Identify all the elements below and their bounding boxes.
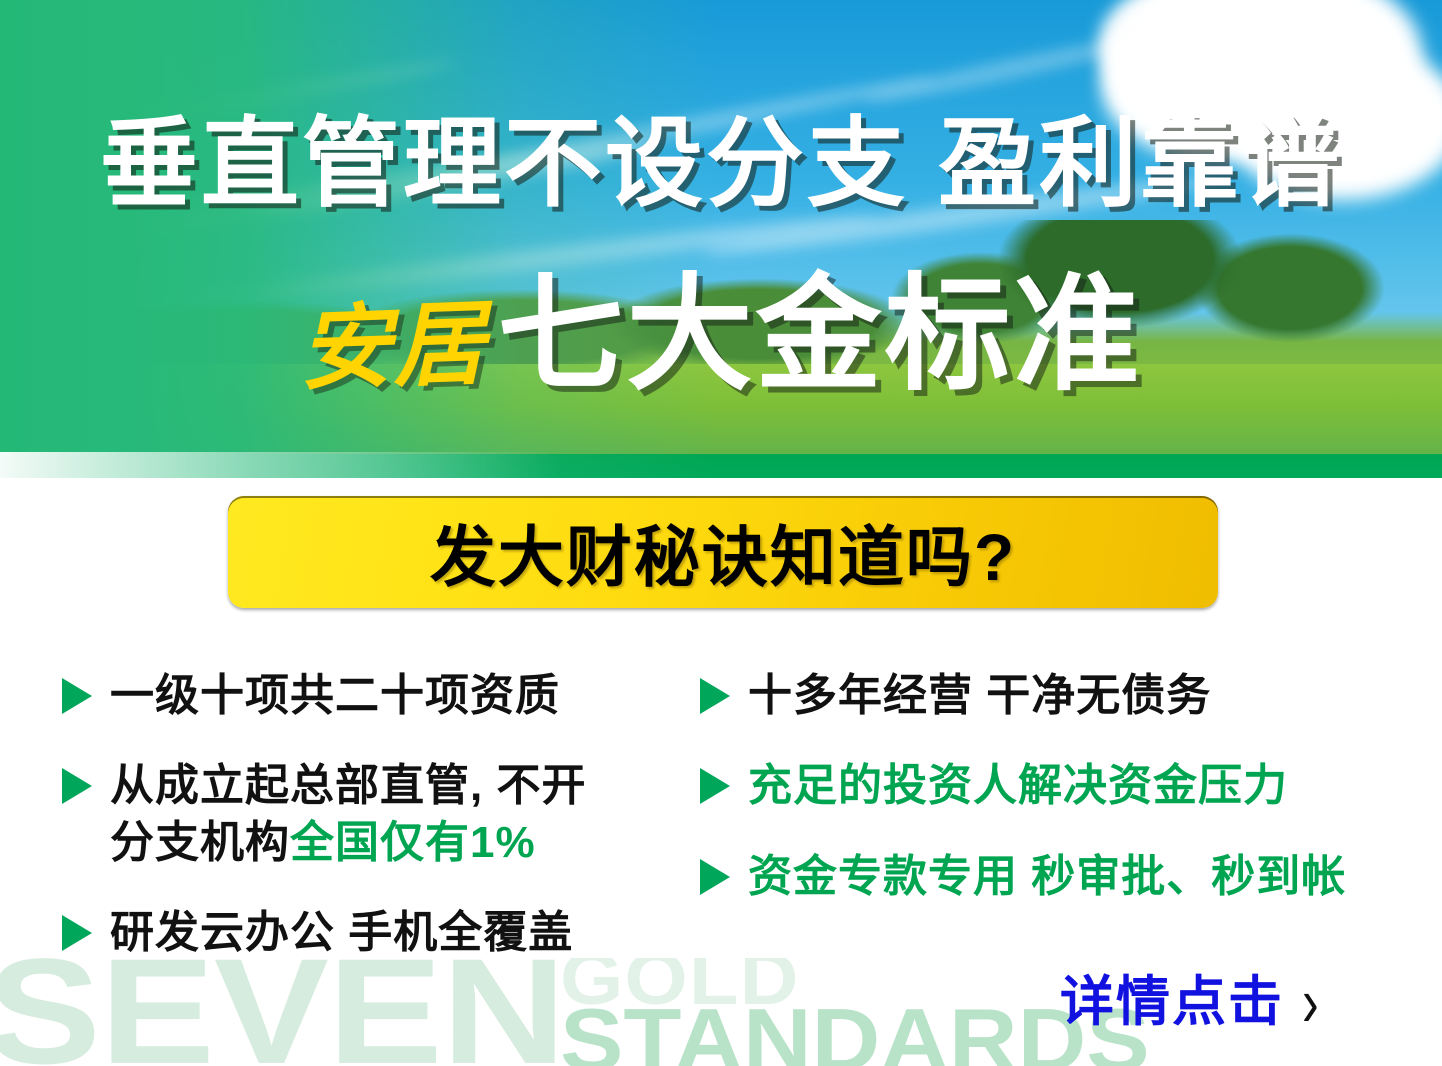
list-item: 资金专款专用 秒审批、秒到帐 (700, 849, 1400, 905)
promo-question-banner[interactable]: 发大财秘诀知道吗? (228, 496, 1218, 608)
feature-text: 一级十项共二十项资质 (110, 668, 560, 724)
brand-name-text: 安居 (298, 298, 489, 397)
feature-text: 资金专款专用 秒审批、秒到帐 (748, 849, 1346, 905)
list-item: 研发云办公 手机全覆盖 (62, 905, 702, 961)
triangle-bullet-icon (700, 859, 730, 895)
triangle-bullet-icon (700, 768, 730, 804)
hero-headline-secondary: 安居七大金标准 (0, 272, 1442, 398)
triangle-bullet-icon (62, 915, 92, 951)
feature-text: 从成立起总部直管, 不开 分支机构全国仅有1% (110, 758, 586, 871)
hero-headline-primary: 垂直管理不设分支 盈利靠谱 (0, 114, 1442, 212)
hero-banner: 垂直管理不设分支 盈利靠谱 安居七大金标准 (0, 0, 1442, 478)
list-item: 十多年经营 干净无债务 (700, 668, 1400, 724)
details-cta-button[interactable]: 详情点击 › (1060, 975, 1319, 1029)
hero-text-block: 垂直管理不设分支 盈利靠谱 安居七大金标准 (0, 0, 1442, 478)
hero-headline-slogan: 七大金标准 (498, 264, 1143, 405)
promo-question-text: 发大财秘诀知道吗? (430, 504, 1016, 600)
feature-list-right: 十多年经营 干净无债务 充足的投资人解决资金压力 资金专款专用 秒审批、秒到帐 (700, 668, 1400, 939)
chevron-right-icon: › (1302, 967, 1319, 1037)
list-item: 充足的投资人解决资金压力 (700, 758, 1400, 814)
feature-text: 研发云办公 手机全覆盖 (110, 905, 573, 961)
details-cta-label: 详情点击 (1060, 975, 1284, 1029)
triangle-bullet-icon (62, 678, 92, 714)
list-item: 一级十项共二十项资质 (62, 668, 702, 724)
feature-text-highlight: 全国仅有1% (290, 818, 536, 867)
feature-list-left: 一级十项共二十项资质 从成立起总部直管, 不开 分支机构全国仅有1% 研发云办公… (62, 668, 702, 995)
triangle-bullet-icon (700, 678, 730, 714)
feature-text: 十多年经营 干净无债务 (748, 668, 1211, 724)
list-item: 从成立起总部直管, 不开 分支机构全国仅有1% (62, 758, 702, 871)
triangle-bullet-icon (62, 768, 92, 804)
feature-text: 充足的投资人解决资金压力 (748, 758, 1288, 814)
